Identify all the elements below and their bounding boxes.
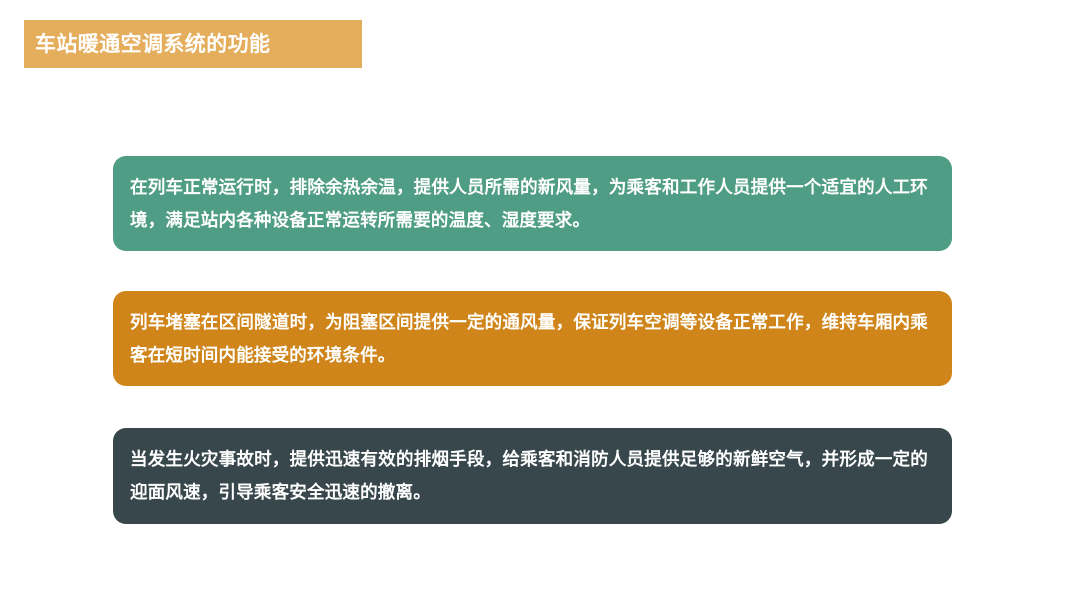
content-box-normal-operation-text: 在列车正常运行时，排除余热余温，提供人员所需的新风量，为乘客和工作人员提供一个适… (130, 171, 928, 237)
content-box-blocked-tunnel-text: 列车堵塞在区间隧道时，为阻塞区间提供一定的通风量，保证列车空调等设备正常工作，维… (130, 306, 928, 372)
content-box-blocked-tunnel: 列车堵塞在区间隧道时，为阻塞区间提供一定的通风量，保证列车空调等设备正常工作，维… (113, 291, 952, 386)
content-box-normal-operation: 在列车正常运行时，排除余热余温，提供人员所需的新风量，为乘客和工作人员提供一个适… (113, 156, 952, 251)
content-box-fire-accident: 当发生火灾事故时，提供迅速有效的排烟手段，给乘客和消防人员提供足够的新鲜空气，并… (113, 428, 952, 524)
content-box-fire-accident-text: 当发生火灾事故时，提供迅速有效的排烟手段，给乘客和消防人员提供足够的新鲜空气，并… (130, 443, 928, 509)
slide-canvas: 车站暖通空调系统的功能 在列车正常运行时，排除余热余温，提供人员所需的新风量，为… (0, 0, 1070, 603)
page-title: 车站暖通空调系统的功能 (35, 34, 270, 55)
slide-title-banner: 车站暖通空调系统的功能 (24, 20, 362, 68)
